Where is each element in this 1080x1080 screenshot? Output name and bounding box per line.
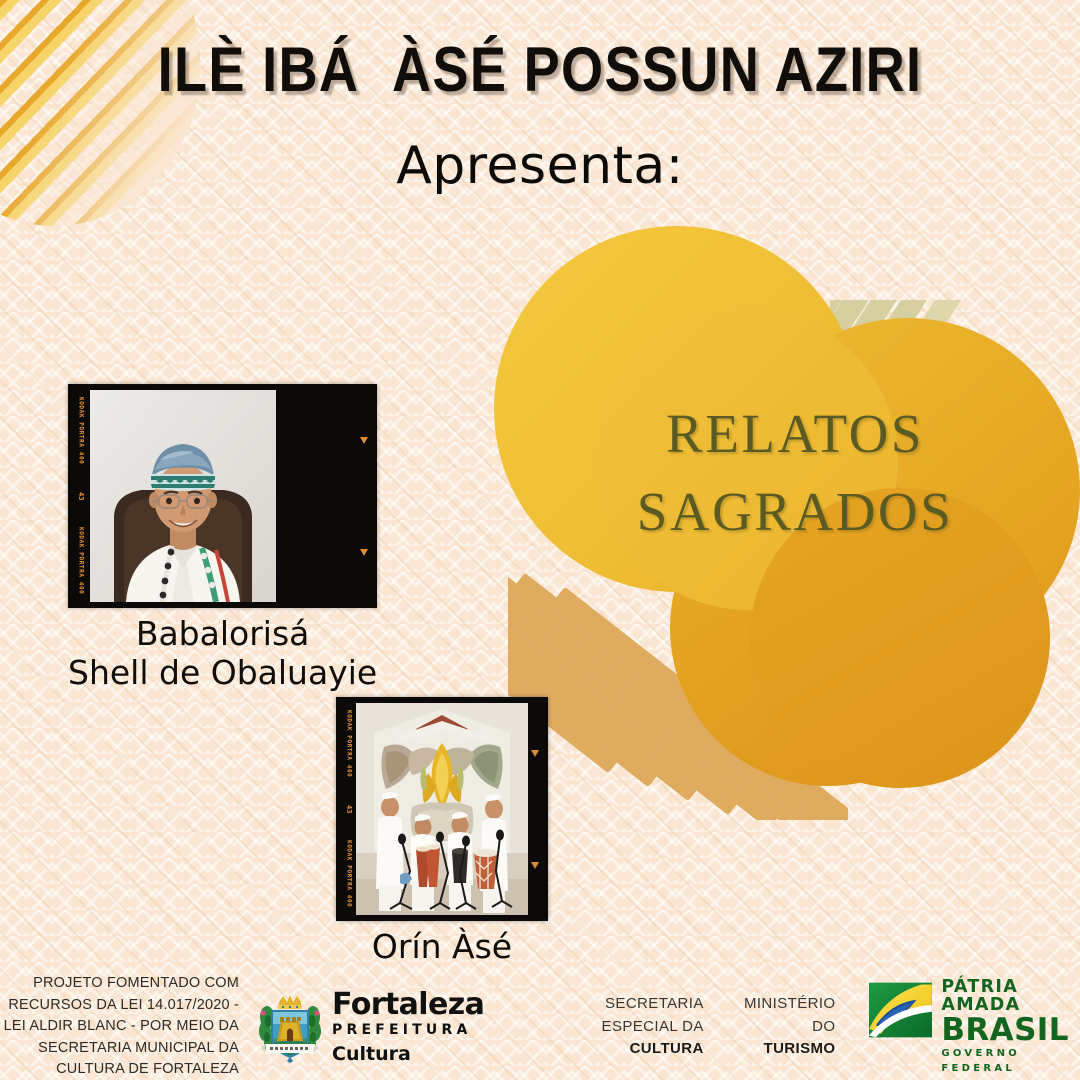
film-edge-right [351, 384, 377, 608]
film-frame-number: 43 [77, 492, 85, 500]
ministerio-line-2: TURISMO [764, 1040, 836, 1057]
photo-babalorisa [90, 390, 276, 602]
film-frame-number: 43 [345, 805, 353, 813]
brasil-flag-swoosh-icon [869, 978, 932, 1042]
fortaleza-coat-of-arms-icon [257, 991, 323, 1063]
photo-orin-ase [356, 703, 528, 915]
film-frame: KODAK PORTRA 400 43 KODAK PORTRA 400 [68, 384, 377, 608]
secretaria-line-2: CULTURA [630, 1040, 704, 1057]
feature-title-line-1: RELATOS [560, 395, 1030, 473]
brasil-label: BRASIL [941, 1015, 1080, 1047]
ministerio-line-1: MINISTÉRIO DO [744, 995, 836, 1035]
feature-title-line-2: SAGRADOS [560, 473, 1030, 551]
photo-card-orin-ase: KODAK PORTRA 400 43 KODAK PORTRA 400 [336, 697, 548, 967]
film-marker-triangle-icon [531, 750, 539, 757]
film-marker-triangle-icon [531, 862, 539, 869]
fortaleza-cultura-label: Cultura [332, 1045, 484, 1064]
ministry-labels-group: SECRETARIA ESPECIAL DA CULTURA MINISTÉRI… [536, 993, 835, 1061]
film-label-top: KODAK PORTRA 400 [78, 397, 85, 464]
film-label-bottom: KODAK PORTRA 400 [346, 840, 353, 907]
film-label-bottom: KODAK PORTRA 400 [78, 527, 85, 594]
funding-credit-text: PROJETO FOMENTADO COM RECURSOS DA LEI 14… [0, 973, 253, 1080]
secretaria-line-1: SECRETARIA ESPECIAL DA [602, 995, 704, 1035]
poster-canvas: ILÈ IBÁ ÀSÉ POSSUN AZIRI Apresenta: RELA… [0, 0, 1080, 1080]
film-marker-triangle-icon [360, 549, 368, 556]
presents-label: Apresenta: [0, 136, 1080, 196]
page-title: ILÈ IBÁ ÀSÉ POSSUN AZIRI [76, 34, 1005, 106]
film-frame: KODAK PORTRA 400 43 KODAK PORTRA 400 [336, 697, 548, 921]
fortaleza-logo: Fortaleza PREFEITURA Cultura [257, 990, 484, 1065]
feature-title: RELATOS SAGRADOS [560, 395, 1030, 551]
governo-federal-label: GOVERNO FEDERAL [941, 1046, 1080, 1076]
brasil-wordmark: PÁTRIA AMADA BRASIL GOVERNO FEDERAL [932, 978, 1080, 1076]
photo-caption-babalorisa: Babalorisá Shell de Obaluayie [68, 615, 377, 692]
ministerio-turismo-label: MINISTÉRIO DO TURISMO [738, 993, 836, 1061]
governo-federal-logo: PÁTRIA AMADA BRASIL GOVERNO FEDERAL [869, 978, 1080, 1076]
fortaleza-name: Fortaleza [332, 990, 484, 1020]
footer-sponsor-bar: PROJETO FOMENTADO COM RECURSOS DA LEI 14… [0, 974, 1080, 1080]
film-marker-triangle-icon [360, 437, 368, 444]
secretaria-especial-cultura-label: SECRETARIA ESPECIAL DA CULTURA [536, 993, 704, 1061]
photo-caption-orin-ase: Orín Àsé [336, 928, 548, 967]
fortaleza-prefeitura-label: PREFEITURA [332, 1020, 484, 1042]
fortaleza-wordmark: Fortaleza PREFEITURA Cultura [332, 990, 484, 1065]
film-label-top: KODAK PORTRA 400 [346, 710, 353, 777]
photo-card-babalorisa: KODAK PORTRA 400 43 KODAK PORTRA 400 [68, 384, 377, 692]
patria-amada-label: PÁTRIA AMADA [941, 978, 1080, 1015]
